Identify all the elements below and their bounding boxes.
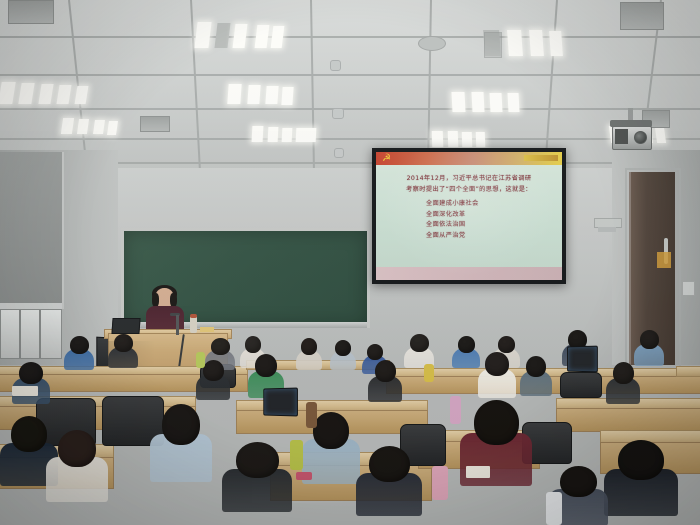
podium-papers — [200, 327, 214, 332]
student-middle-row — [520, 356, 552, 396]
student-middle-row — [606, 362, 640, 404]
student-head — [618, 440, 664, 480]
student-front-row — [604, 440, 678, 516]
student-head — [245, 336, 261, 353]
slide-footer-band — [376, 267, 562, 280]
desk-row-middle — [676, 366, 700, 377]
thermos — [432, 466, 448, 500]
hammer-sickle-icon: ☭ — [381, 153, 392, 164]
student-back-row — [296, 338, 322, 370]
student-head — [367, 344, 383, 360]
thermos — [306, 402, 317, 428]
bottle — [450, 396, 461, 424]
student-head — [255, 354, 277, 377]
phone — [296, 472, 312, 480]
lecture-hall-photo: ☭ 2014年12月，习近平总书记在江苏省调研 考察时提出了“四个全面”的思想，… — [0, 0, 700, 525]
student-front-row — [222, 442, 292, 512]
ceiling — [0, 0, 700, 172]
desk-row-middle-panel — [556, 408, 700, 432]
student-middle-row — [478, 352, 516, 398]
paper — [12, 386, 38, 396]
air-vent-icon — [140, 116, 170, 132]
microphone-stand — [176, 315, 179, 335]
student-head — [313, 412, 349, 449]
lecturer-hair-right — [170, 293, 177, 307]
student-head — [560, 466, 597, 497]
slide-bullet-4: 全面从严治党 — [382, 231, 556, 242]
projector-vent — [615, 129, 628, 144]
lecturer-hair-left — [152, 293, 159, 307]
paper — [466, 466, 490, 478]
student-back-row — [64, 336, 94, 370]
student-head — [526, 356, 546, 377]
student-head — [19, 362, 43, 384]
laptop — [567, 346, 598, 373]
slide-body: 2014年12月，习近平总书记在江苏省调研 考察时提出了“四个全面”的思想，这就… — [376, 165, 562, 267]
student-front-row — [356, 446, 422, 516]
cup — [196, 352, 205, 368]
slide-header-accent — [524, 155, 558, 161]
student-back-row — [404, 334, 434, 368]
slide-line-1: 2014年12月，习近平总书记在江苏省调研 — [382, 174, 556, 185]
student-head — [485, 352, 509, 376]
student-head — [203, 360, 224, 381]
door-sign — [657, 252, 671, 268]
projection-screen: ☭ 2014年12月，习近平总书记在江苏省调研 考察时提出了“四个全面”的思想，… — [376, 152, 562, 280]
smoke-detector-icon — [332, 108, 344, 119]
student-head — [474, 400, 519, 445]
student-head — [301, 338, 317, 355]
student-back-row — [634, 330, 664, 366]
student-head — [498, 336, 515, 353]
projector — [604, 108, 660, 154]
window — [0, 309, 62, 359]
air-vent-icon — [8, 0, 54, 24]
student-head — [640, 330, 659, 349]
air-vent-icon — [484, 32, 502, 58]
student-head — [458, 336, 475, 353]
ceiling-speaker-icon — [418, 36, 446, 51]
student-front-row — [150, 404, 212, 482]
slide-bullet-2: 全面深化改革 — [382, 210, 556, 221]
chair[interactable] — [560, 372, 602, 398]
student-middle-row — [12, 362, 50, 404]
student-back-row — [330, 340, 356, 370]
student-front-row — [46, 430, 108, 502]
slide-header-band: ☭ — [376, 152, 562, 165]
slide-line-2: 考察时提出了“四个全面”的思想，这就是： — [382, 185, 556, 196]
smoke-detector-icon — [334, 148, 344, 158]
wall-sign-secondary — [598, 227, 616, 232]
student-head — [236, 442, 279, 478]
laptop — [263, 387, 298, 416]
student-middle-row — [368, 360, 402, 402]
air-vent-icon — [620, 2, 664, 30]
student-head — [70, 336, 89, 354]
cup — [424, 364, 434, 382]
podium-bottle-cap — [190, 314, 197, 318]
student-back-row — [452, 336, 480, 368]
student-head — [211, 338, 230, 355]
student-head — [58, 430, 96, 467]
podium-laptop — [112, 318, 138, 334]
slide-bullet-3: 全面依法治国 — [382, 220, 556, 231]
student-head — [375, 360, 396, 382]
student-back-row — [108, 334, 138, 368]
smoke-detector-icon — [330, 60, 341, 71]
projector-lens-icon — [634, 131, 647, 144]
slide-bullet-1: 全面建成小康社会 — [382, 199, 556, 210]
podium-bottle — [190, 316, 197, 333]
bottle — [546, 492, 562, 525]
student-head — [410, 334, 429, 352]
student-head — [11, 416, 47, 452]
projection-screen-frame: ☭ 2014年12月，习近平总书记在江苏省调研 考察时提出了“四个全面”的思想，… — [372, 148, 566, 284]
student-head — [162, 404, 200, 445]
window-roller-blind[interactable] — [0, 152, 64, 309]
student-head — [369, 446, 410, 482]
student-head — [335, 340, 351, 356]
wall-socket-icon — [682, 281, 695, 296]
student-head — [613, 362, 634, 384]
bottle — [290, 440, 303, 470]
student-head — [114, 334, 133, 352]
